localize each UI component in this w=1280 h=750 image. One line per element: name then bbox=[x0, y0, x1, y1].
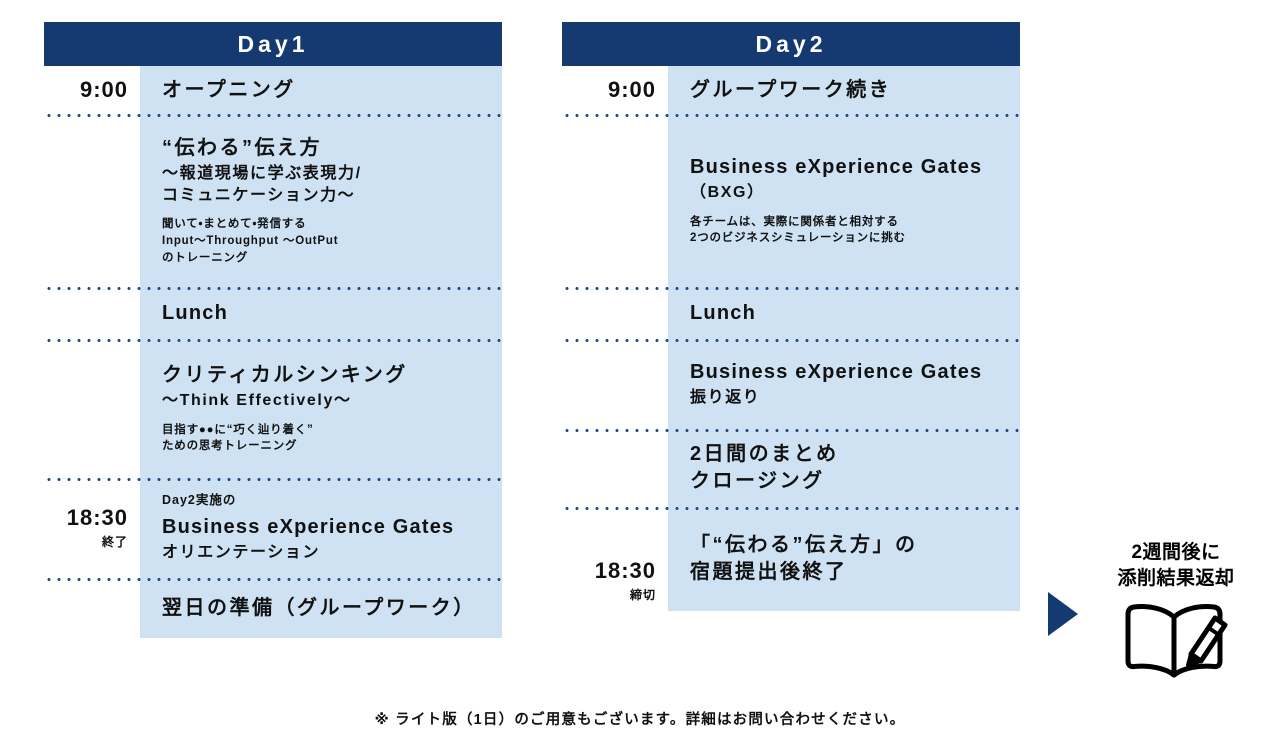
content-cell: グループワーク続き bbox=[668, 66, 1020, 114]
subtitle-line: オリエンテーション bbox=[162, 542, 488, 564]
note-line: のトレーニング bbox=[162, 250, 488, 267]
content-cell: 翌日の準備（グループワーク） bbox=[140, 578, 502, 638]
time-sublabel: 締切 bbox=[630, 586, 656, 603]
time-cell bbox=[44, 578, 140, 638]
session-note: 目指す●●に“巧く辿り着く” ための思考トレーニング bbox=[162, 422, 488, 455]
callout-line-2: 添削結果返却 bbox=[1088, 566, 1264, 592]
time-cell bbox=[562, 287, 668, 339]
session-note: 聞いて・まとめて・発信する Input〜Throughput 〜OutPut の… bbox=[162, 216, 488, 266]
content-cell: クリティカルシンキング 〜Think Effectively〜 目指す●●に“巧… bbox=[140, 339, 502, 478]
time-label: 9:00 bbox=[80, 78, 128, 102]
session-title: 2日間のまとめ bbox=[690, 441, 1006, 468]
session-title: Business eXperience Gates bbox=[690, 359, 1006, 386]
schedule-row: 9:00 オープニング bbox=[44, 66, 502, 114]
feedback-callout: 2週間後に 添削結果返却 bbox=[1088, 540, 1264, 686]
day-header-day1: Day1 bbox=[44, 22, 502, 66]
content-cell: Business eXperience Gates 振り返り bbox=[668, 339, 1020, 429]
time-cell bbox=[44, 114, 140, 287]
note-line: ための思考トレーニング bbox=[162, 438, 488, 455]
time-cell bbox=[562, 339, 668, 429]
session-title: グループワーク続き bbox=[690, 77, 1006, 104]
subtitle-line: 〜報道現場に学ぶ表現力/ bbox=[162, 163, 488, 185]
session-title: Business eXperience Gates bbox=[162, 514, 488, 541]
session-subtitle: 〜Think Effectively〜 bbox=[162, 390, 488, 412]
session-subtitle: 宿題提出後終了 bbox=[690, 559, 1006, 586]
subtitle-line: 〜Think Effectively〜 bbox=[162, 390, 488, 412]
note-line: 聞いて・まとめて・発信する bbox=[162, 216, 488, 233]
session-title: 「“伝わる”伝え方」の bbox=[690, 532, 1006, 559]
schedule-infographic: Day1 9:00 オープニング “伝わる”伝え方 〜報道現場に学ぶ表現力/ コ… bbox=[0, 0, 1280, 750]
session-title: “伝わる”伝え方 bbox=[162, 135, 488, 162]
day-column-day1: Day1 9:00 オープニング “伝わる”伝え方 〜報道現場に学ぶ表現力/ コ… bbox=[44, 22, 502, 638]
time-label: 9:00 bbox=[608, 78, 656, 102]
time-cell: 18:30 終了 bbox=[44, 478, 140, 578]
triangle-right-icon bbox=[1048, 592, 1078, 636]
note-line: 2つのビジネスシミュレーションに挑む bbox=[690, 230, 1006, 247]
content-cell: オープニング bbox=[140, 66, 502, 114]
content-cell: 2日間のまとめ クロージング bbox=[668, 429, 1020, 507]
time-cell: 18:30 締切 bbox=[562, 507, 668, 611]
note-line: 各チームは、実際に関係者と相対する bbox=[690, 214, 1006, 231]
session-title: Lunch bbox=[162, 300, 488, 327]
callout-line-1: 2週間後に bbox=[1088, 540, 1264, 566]
subtitle-line: コミュニケーション力〜 bbox=[162, 185, 488, 207]
session-title: 翌日の準備（グループワーク） bbox=[162, 595, 488, 622]
schedule-row: 2日間のまとめ クロージング bbox=[562, 429, 1020, 507]
session-title: Lunch bbox=[690, 300, 1006, 327]
session-title: オープニング bbox=[162, 77, 488, 104]
schedule-row: Lunch bbox=[562, 287, 1020, 339]
session-eyebrow: Day2実施の bbox=[162, 491, 488, 510]
time-cell bbox=[44, 287, 140, 339]
content-cell: Lunch bbox=[140, 287, 502, 339]
footer-note: ※ ライト版（1日）のご用意もございます。詳細はお問い合わせください。 bbox=[0, 708, 1280, 729]
schedule-row: “伝わる”伝え方 〜報道現場に学ぶ表現力/ コミュニケーション力〜 聞いて・まと… bbox=[44, 114, 502, 287]
day-body-day1: 9:00 オープニング “伝わる”伝え方 〜報道現場に学ぶ表現力/ コミュニケー… bbox=[44, 66, 502, 638]
note-line: 目指す●●に“巧く辿り着く” bbox=[162, 422, 488, 439]
time-cell bbox=[44, 339, 140, 478]
time-cell: 9:00 bbox=[44, 66, 140, 114]
session-subtitle: 〜報道現場に学ぶ表現力/ コミュニケーション力〜 bbox=[162, 163, 488, 208]
content-cell: “伝わる”伝え方 〜報道現場に学ぶ表現力/ コミュニケーション力〜 聞いて・まと… bbox=[140, 114, 502, 287]
schedule-row: 18:30 締切 「“伝わる”伝え方」の 宿題提出後終了 bbox=[562, 507, 1020, 611]
session-subtitle: （BXG） bbox=[690, 182, 1006, 204]
note-line: Input〜Throughput 〜OutPut bbox=[162, 233, 488, 250]
day-header-day2: Day2 bbox=[562, 22, 1020, 66]
session-subtitle: クロージング bbox=[690, 468, 1006, 495]
time-cell bbox=[562, 429, 668, 507]
day-column-day2: Day2 9:00 グループワーク続き Business eXperience … bbox=[562, 22, 1020, 611]
content-cell: Lunch bbox=[668, 287, 1020, 339]
schedule-row: 9:00 グループワーク続き bbox=[562, 66, 1020, 114]
time-cell: 9:00 bbox=[562, 66, 668, 114]
schedule-row: Business eXperience Gates （BXG） 各チームは、実際… bbox=[562, 114, 1020, 287]
subtitle-line: （BXG） bbox=[690, 182, 1006, 204]
time-sublabel: 終了 bbox=[102, 533, 128, 550]
session-subtitle: オリエンテーション bbox=[162, 542, 488, 564]
content-cell: Day2実施の Business eXperience Gates オリエンテー… bbox=[140, 478, 502, 578]
session-subtitle: 振り返り bbox=[690, 387, 1006, 409]
schedule-row: 翌日の準備（グループワーク） bbox=[44, 578, 502, 638]
content-cell: 「“伝わる”伝え方」の 宿題提出後終了 bbox=[668, 507, 1020, 611]
schedule-row: Business eXperience Gates 振り返り bbox=[562, 339, 1020, 429]
time-cell bbox=[562, 114, 668, 287]
schedule-row: 18:30 終了 Day2実施の Business eXperience Gat… bbox=[44, 478, 502, 578]
time-label: 18:30 bbox=[595, 559, 656, 583]
schedule-row: クリティカルシンキング 〜Think Effectively〜 目指す●●に“巧… bbox=[44, 339, 502, 478]
content-cell: Business eXperience Gates （BXG） 各チームは、実際… bbox=[668, 114, 1020, 287]
session-note: 各チームは、実際に関係者と相対する 2つのビジネスシミュレーションに挑む bbox=[690, 214, 1006, 247]
day-body-day2: 9:00 グループワーク続き Business eXperience Gates… bbox=[562, 66, 1020, 611]
session-title: Business eXperience Gates bbox=[690, 154, 1006, 181]
book-with-pen-icon bbox=[1088, 599, 1264, 686]
session-title: クリティカルシンキング bbox=[162, 362, 488, 389]
schedule-row: Lunch bbox=[44, 287, 502, 339]
subtitle-line: 振り返り bbox=[690, 387, 1006, 409]
time-label: 18:30 bbox=[67, 506, 128, 530]
